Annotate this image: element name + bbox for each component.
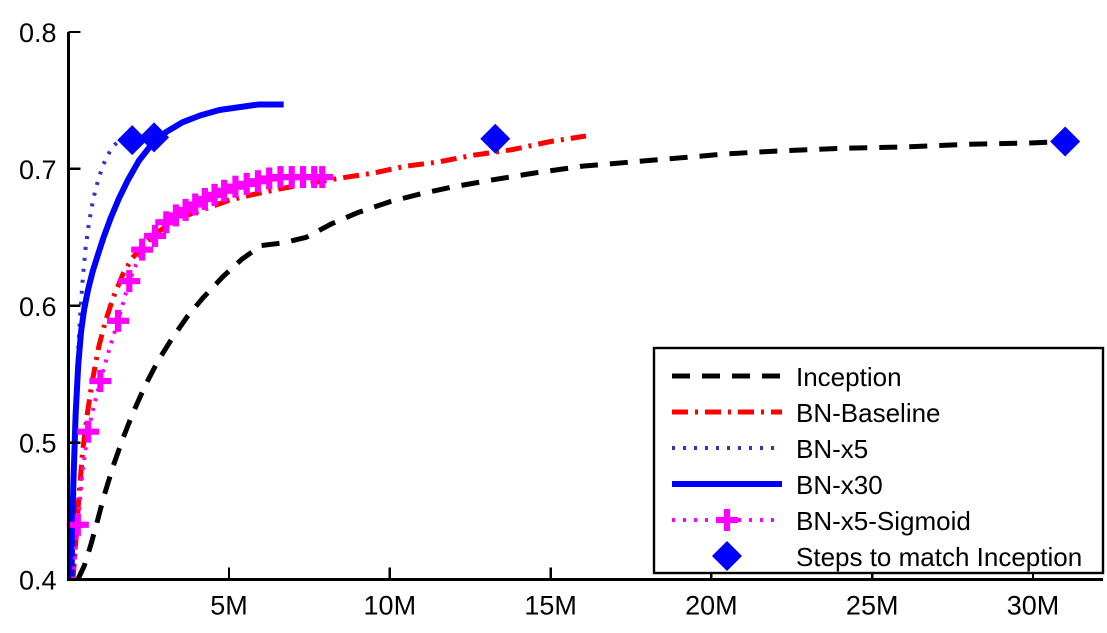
legend-group: InceptionBN-BaselineBN-x5BN-x30BN-x5-Sig… xyxy=(654,348,1103,573)
y-axis-tick-label: 0.8 xyxy=(19,18,57,48)
x-axis-tick-label: 5M xyxy=(210,591,248,621)
legend-item-label: BN-Baseline xyxy=(796,398,941,428)
legend-item-label: Steps to match Inception xyxy=(796,542,1082,572)
sigmoid-plus-marker xyxy=(77,421,99,443)
y-axis-tick-label: 0.7 xyxy=(19,155,57,185)
legend-item-label: BN-x30 xyxy=(796,470,883,500)
y-axis-tick-label: 0.5 xyxy=(19,429,57,459)
x-axis-tick-label: 10M xyxy=(364,591,417,621)
x-axis-tick-label: 15M xyxy=(524,591,577,621)
series-bn-baseline xyxy=(73,136,586,579)
x-axis-tick-label: 30M xyxy=(1007,591,1060,621)
steps-to-match-diamond xyxy=(139,122,169,152)
chart-figure: 0.40.50.60.70.85M10M15M20M25M30M Incepti… xyxy=(0,0,1107,633)
legend-item-label: BN-x5 xyxy=(796,434,868,464)
x-axis-tick-label: 25M xyxy=(846,591,899,621)
y-axis-tick-label: 0.4 xyxy=(19,566,57,596)
match-inception-markers xyxy=(117,122,1080,156)
steps-to-match-diamond xyxy=(1050,127,1080,157)
legend-item-label: BN-x5-Sigmoid xyxy=(796,506,971,536)
x-axis-tick-label: 20M xyxy=(685,591,738,621)
chart-svg: 0.40.50.60.70.85M10M15M20M25M30M Incepti… xyxy=(0,0,1107,633)
y-axis-tick-label: 0.6 xyxy=(19,292,57,322)
series-line xyxy=(73,136,586,579)
legend-item-label: Inception xyxy=(796,362,902,392)
